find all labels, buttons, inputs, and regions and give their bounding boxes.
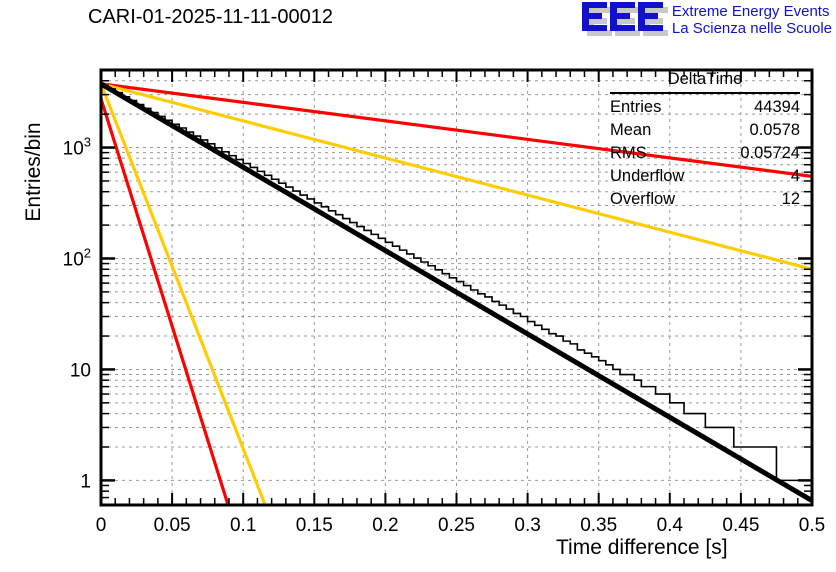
stats-row-value: 44394	[754, 96, 800, 119]
x-tick-label: 0.3	[514, 515, 540, 536]
x-tick-label: 0.15	[296, 515, 333, 536]
stats-row-value: 4	[791, 165, 800, 188]
plot-canvas: CARI-01-2025-11-11-00012 Extreme Energy …	[0, 0, 836, 572]
y-tick-label: 102	[63, 245, 91, 270]
x-tick-label: 0.25	[438, 515, 475, 536]
stats-row-label: Mean	[610, 119, 651, 142]
stats-row: Mean0.0578	[610, 119, 800, 142]
stats-rows: Entries44394Mean0.0578RMS0.05724Underflo…	[610, 96, 800, 211]
y-tick-label: 10	[70, 360, 91, 381]
x-tick-label: 0.35	[580, 515, 617, 536]
y-tick-label: 103	[63, 135, 91, 160]
stats-row-label: Overflow	[610, 188, 675, 211]
stats-row-value: 0.0578	[750, 119, 800, 142]
stats-row: Underflow4	[610, 165, 800, 188]
stats-row: Overflow12	[610, 188, 800, 211]
x-tick-label: 0	[96, 515, 107, 536]
x-axis-label: Time difference [s]	[556, 536, 728, 560]
x-tick-label: 0.45	[722, 515, 759, 536]
stats-row-label: Entries	[610, 96, 661, 119]
stats-title: DeltaTime	[610, 68, 800, 92]
stats-divider	[610, 92, 800, 94]
stats-row-label: Underflow	[610, 165, 684, 188]
stats-row-label: RMS	[610, 142, 647, 165]
x-tick-label: 0.1	[230, 515, 256, 536]
x-tick-label: 0.4	[657, 515, 684, 536]
x-tick-label: 0.5	[799, 515, 825, 536]
stats-row-value: 12	[782, 188, 800, 211]
y-tick-label: 1	[80, 471, 91, 492]
x-tick-label: 0.2	[372, 515, 398, 536]
stats-row: RMS0.05724	[610, 142, 800, 165]
y-axis-label: Entries/bin	[22, 72, 46, 272]
stats-row-value: 0.05724	[740, 142, 800, 165]
x-tick-label: 0.05	[154, 515, 191, 536]
stats-row: Entries44394	[610, 96, 800, 119]
stats-box: DeltaTime Entries44394Mean0.0578RMS0.057…	[610, 68, 800, 211]
